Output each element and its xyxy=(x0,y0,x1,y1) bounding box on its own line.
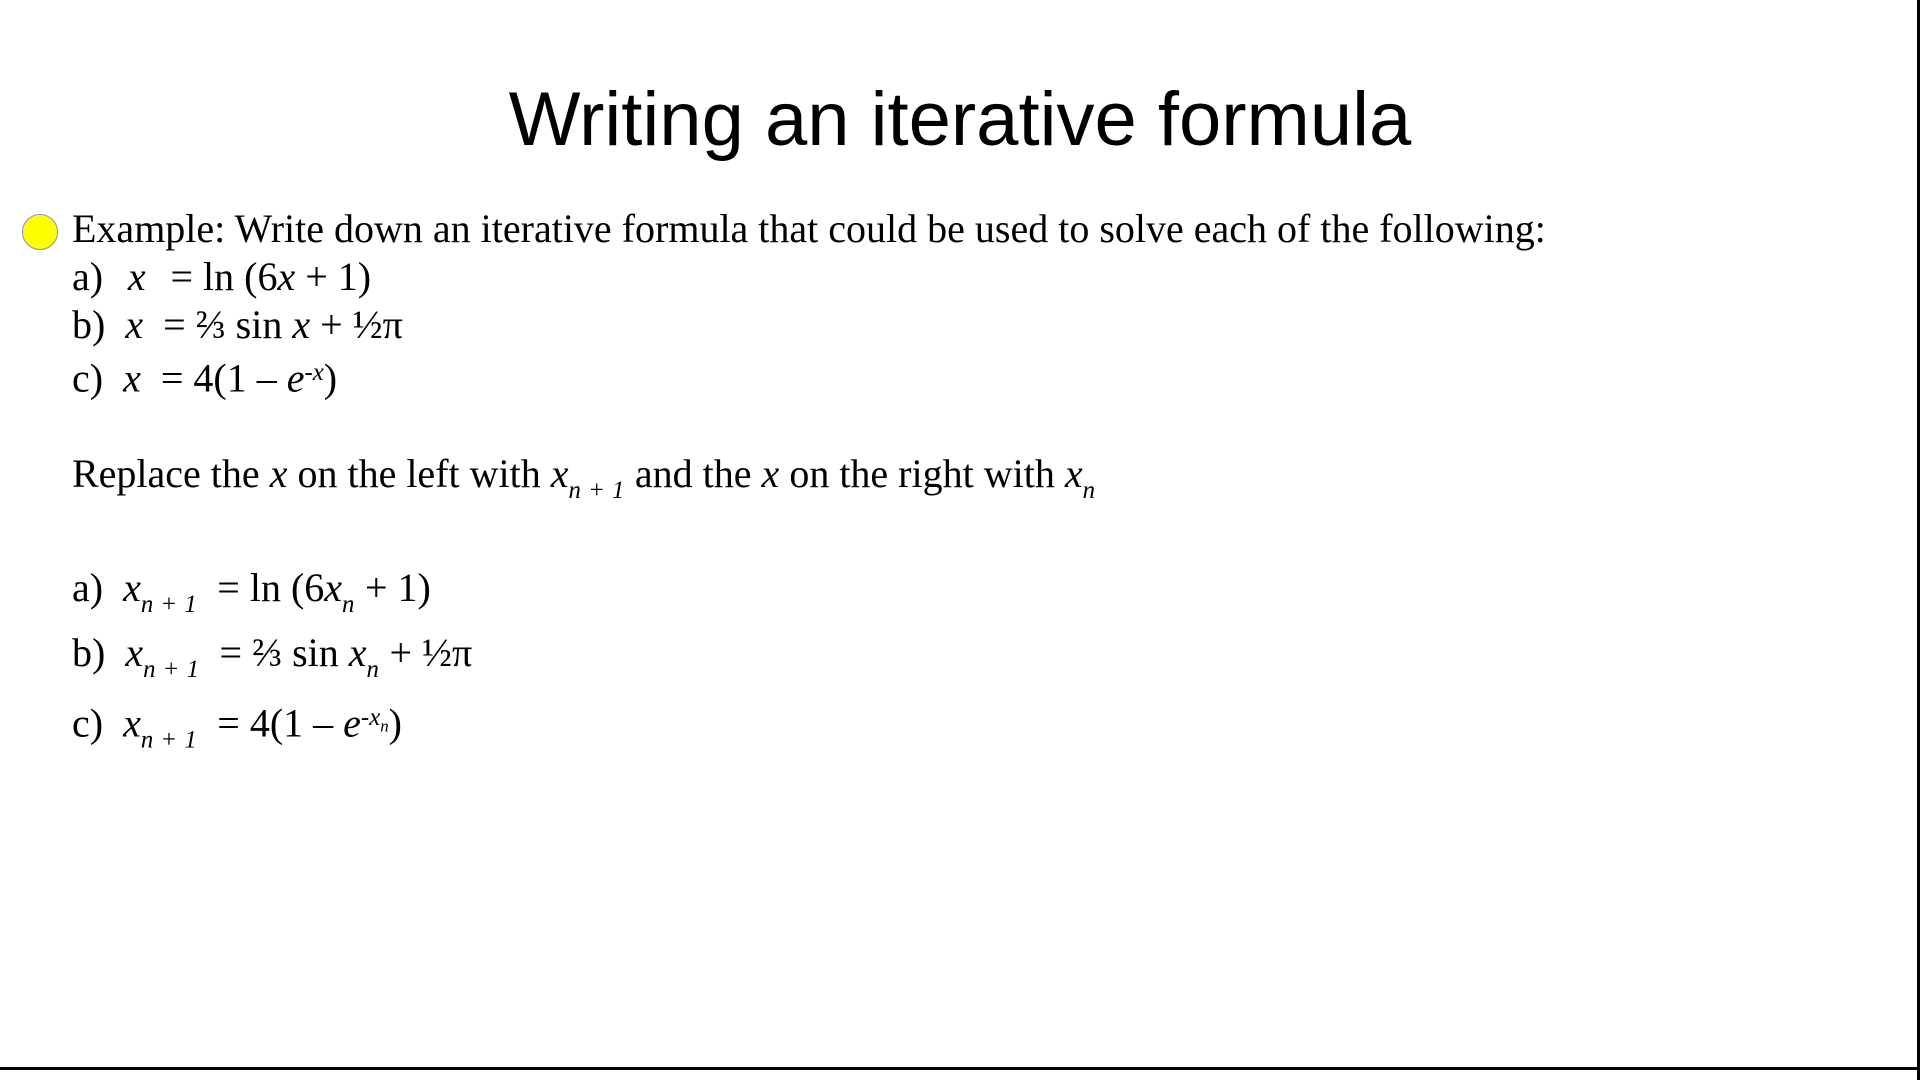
question-b: b) x = ⅔ sin x + ½π xyxy=(18,301,1878,349)
question-a-tail: + 1) xyxy=(295,254,371,299)
question-c-operator: = 4(1 – xyxy=(161,355,287,400)
slide-bottom-edge xyxy=(0,1067,1920,1070)
question-b-var: x xyxy=(292,302,310,347)
spacer-2 xyxy=(18,516,1878,564)
question-c-base: e xyxy=(287,355,305,400)
question-a-var: x xyxy=(277,254,295,299)
question-b-operator: = ⅔ sin xyxy=(163,302,292,347)
spacer-1 xyxy=(18,402,1878,450)
question-c-exponent: -x xyxy=(305,359,324,386)
answer-a-label: a) xyxy=(72,565,103,610)
instruction-part-4: on the right with xyxy=(779,451,1065,496)
question-a-lhs: x xyxy=(128,254,146,299)
slide: Writing an iterative formula Example: Wr… xyxy=(0,0,1920,1080)
instruction-part-1: Replace the xyxy=(72,451,270,496)
answer-b-rhs-var: x xyxy=(349,630,367,675)
question-b-lhs: x xyxy=(125,302,143,347)
example-prompt-row: Example: Write down an iterative formula… xyxy=(18,205,1878,253)
instruction-part-2: on the left with xyxy=(287,451,550,496)
answer-b: b) xn + 1 = ⅔ sin xn + ½π xyxy=(18,629,1878,694)
answer-a-rhs-var: x xyxy=(324,565,342,610)
answer-a-rhs-sub: n xyxy=(342,591,355,618)
answer-c-exponent-var: x xyxy=(369,704,380,731)
question-c: c) x = 4(1 – e-x) xyxy=(18,349,1878,402)
answer-c-exponent: -xn xyxy=(361,704,389,731)
question-a: a) x = ln (6x + 1) xyxy=(18,253,1878,301)
answer-b-tail: + ½π xyxy=(379,630,472,675)
page-title: Writing an iterative formula xyxy=(0,78,1920,162)
question-c-lhs: x xyxy=(123,355,141,400)
question-c-tail: ) xyxy=(324,355,337,400)
answer-c-exponent-sign: - xyxy=(361,704,369,731)
answer-a-operator: = ln (6 xyxy=(217,565,324,610)
instruction-var-1: x xyxy=(270,451,288,496)
answer-b-rhs-sub: n xyxy=(367,656,380,683)
answer-c-base: e xyxy=(343,700,361,745)
answer-a-lhs-sub: n + 1 xyxy=(141,591,197,618)
answer-c-lhs-sub: n + 1 xyxy=(141,726,197,753)
instruction-var-4: x xyxy=(1065,451,1083,496)
instruction-sub-4: n xyxy=(1083,478,1096,505)
answer-c-tail: ) xyxy=(389,700,402,745)
answer-c: c) xn + 1 = 4(1 – e-xn) xyxy=(18,694,1878,765)
instruction-part-3: and the xyxy=(625,451,762,496)
answer-b-operator: = ⅔ sin xyxy=(220,630,349,675)
answer-b-label: b) xyxy=(72,630,105,675)
question-b-tail: + ½π xyxy=(310,302,403,347)
answer-c-exponent-sub: n xyxy=(380,716,388,735)
answer-a-tail: + 1) xyxy=(355,565,431,610)
answer-a: a) xn + 1 = ln (6xn + 1) xyxy=(18,564,1878,629)
slide-body: Example: Write down an iterative formula… xyxy=(18,205,1878,764)
question-c-label: c) xyxy=(72,355,103,400)
question-a-operator: = ln (6 xyxy=(170,254,277,299)
answer-c-lhs-var: x xyxy=(123,700,141,745)
answer-c-operator: = 4(1 – xyxy=(217,700,343,745)
question-a-label: a) xyxy=(72,254,103,299)
instruction-var-3: x xyxy=(762,451,780,496)
instruction-line: Replace the x on the left with xn + 1 an… xyxy=(18,450,1878,515)
instruction-var-2: x xyxy=(551,451,569,496)
answer-b-lhs-sub: n + 1 xyxy=(143,656,199,683)
instruction-sub-2: n + 1 xyxy=(569,478,625,505)
answer-c-label: c) xyxy=(72,700,103,745)
bullet-circle-icon xyxy=(22,214,58,250)
question-b-label: b) xyxy=(72,302,105,347)
answer-a-lhs-var: x xyxy=(123,565,141,610)
example-prompt-text: Example: Write down an iterative formula… xyxy=(72,206,1546,251)
answer-b-lhs-var: x xyxy=(125,630,143,675)
